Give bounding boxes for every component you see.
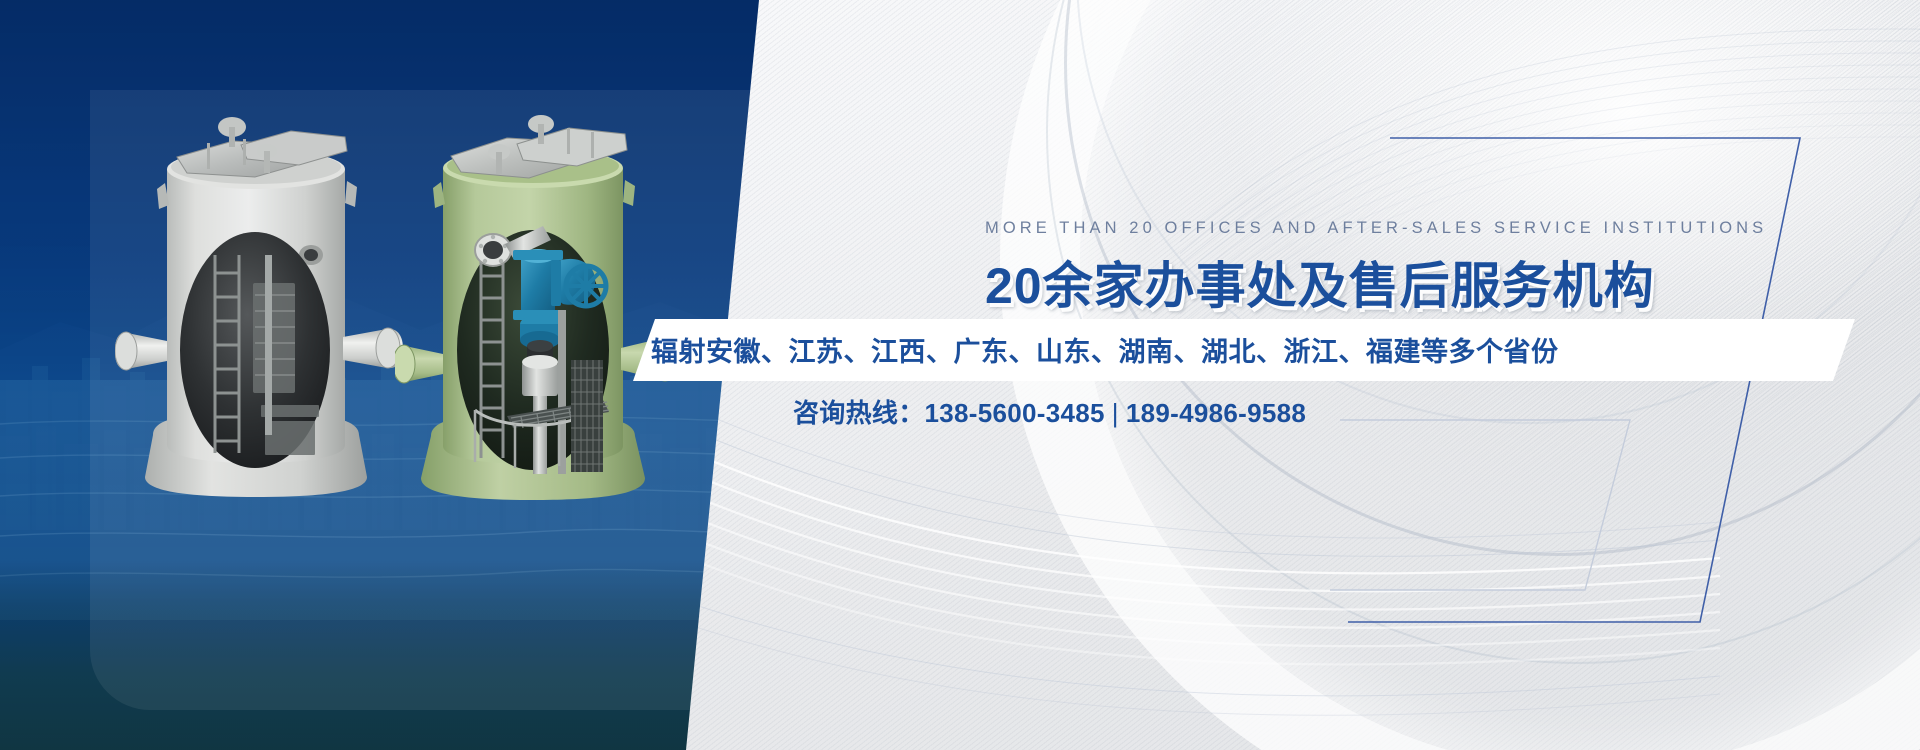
- provinces-text: 辐射安徽、江苏、江西、广东、山东、湖南、湖北、浙江、福建等多个省份: [651, 330, 1559, 369]
- page-title: 20余家办事处及售后服务机构: [985, 246, 1655, 318]
- hotline-primary-number[interactable]: 138-5600-3485: [925, 398, 1105, 428]
- eyebrow-english-text: MORE THAN 20 OFFICES AND AFTER-SALES SER…: [985, 219, 1767, 238]
- hotline-separator: |: [1105, 398, 1126, 428]
- gray-pump-station-render: [115, 105, 415, 505]
- promo-banner: MORE THAN 20 OFFICES AND AFTER-SALES SER…: [0, 0, 1920, 750]
- hotline-row: 咨询热线：138-5600-3485|189-4986-9588: [793, 393, 1306, 430]
- hotline-secondary-number[interactable]: 189-4986-9588: [1126, 398, 1306, 428]
- hotline-label: 咨询热线：: [793, 398, 925, 428]
- green-pump-station-render: [395, 110, 685, 510]
